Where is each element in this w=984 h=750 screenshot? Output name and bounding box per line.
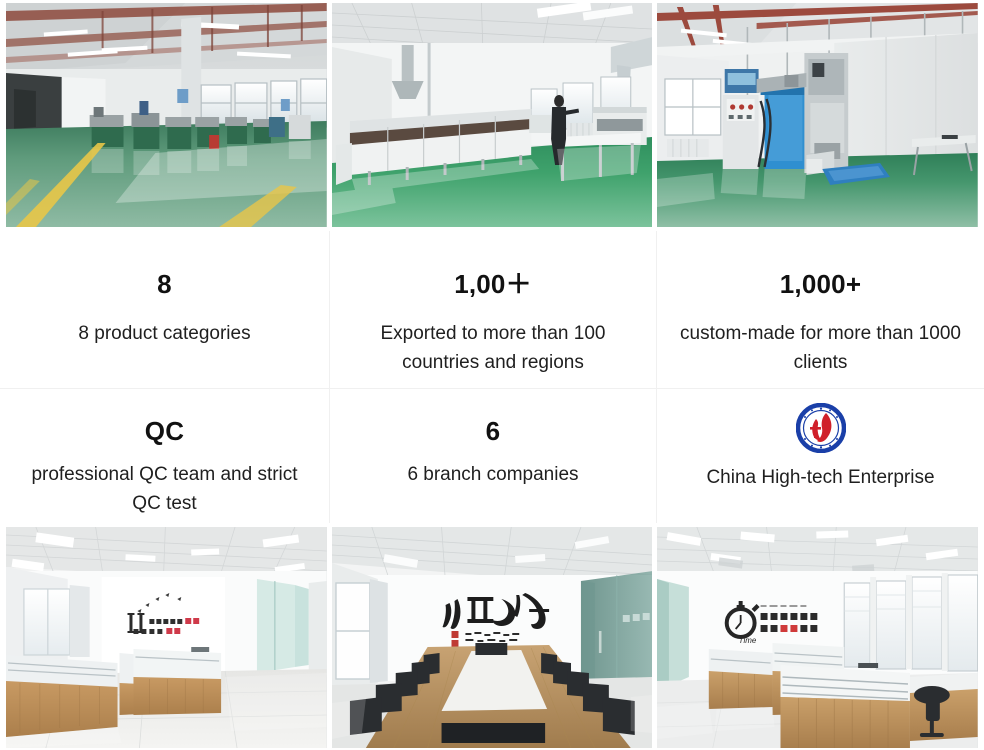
china-high-tech-enterprise-logo	[671, 403, 970, 453]
stat-value: 6	[344, 418, 642, 444]
stat-value: QC	[14, 418, 315, 444]
top-photo-row	[6, 3, 978, 227]
stat-export-countries: 1,00＋ Exported to more than 100 countrie…	[329, 231, 656, 388]
stat-description: custom-made for more than 1000 clients	[671, 319, 970, 378]
stat-description: Exported to more than 100 countries and …	[344, 319, 642, 378]
capability-showcase-page: 8 8 product categories 1,00＋ Exported to…	[0, 0, 984, 750]
conference-room-photo[interactable]	[332, 527, 653, 748]
stat-custom-made-clients: 1,000+ custom-made for more than 1000 cl…	[656, 231, 984, 388]
office-area-photo[interactable]	[6, 527, 327, 748]
stat-product-categories: 8 8 product categories	[0, 231, 329, 388]
production-line-photo[interactable]	[332, 3, 653, 227]
stats-grid: 8 8 product categories 1,00＋ Exported to…	[0, 231, 984, 523]
bottom-photo-row: Time	[6, 527, 978, 748]
workstation-area-photo[interactable]: Time	[657, 527, 978, 748]
factory-workshop-photo[interactable]	[6, 3, 327, 227]
stat-description: professional QC team and strict QC test	[14, 460, 315, 519]
stat-high-tech-enterprise: China High-tech Enterprise	[656, 388, 984, 523]
stat-description: China High-tech Enterprise	[671, 463, 970, 492]
stat-qc-team: QC professional QC team and strict QC te…	[0, 388, 329, 523]
stat-value: 1,00＋	[344, 271, 642, 297]
stat-branch-companies: 6 6 branch companies	[329, 388, 656, 523]
testing-equipment-photo[interactable]	[657, 3, 978, 227]
svg-text:Time: Time	[739, 636, 757, 645]
stat-description: 6 branch companies	[344, 460, 642, 489]
stat-value: 8	[14, 271, 315, 297]
stat-description: 8 product categories	[14, 319, 315, 348]
stat-value: 1,000+	[671, 271, 970, 297]
